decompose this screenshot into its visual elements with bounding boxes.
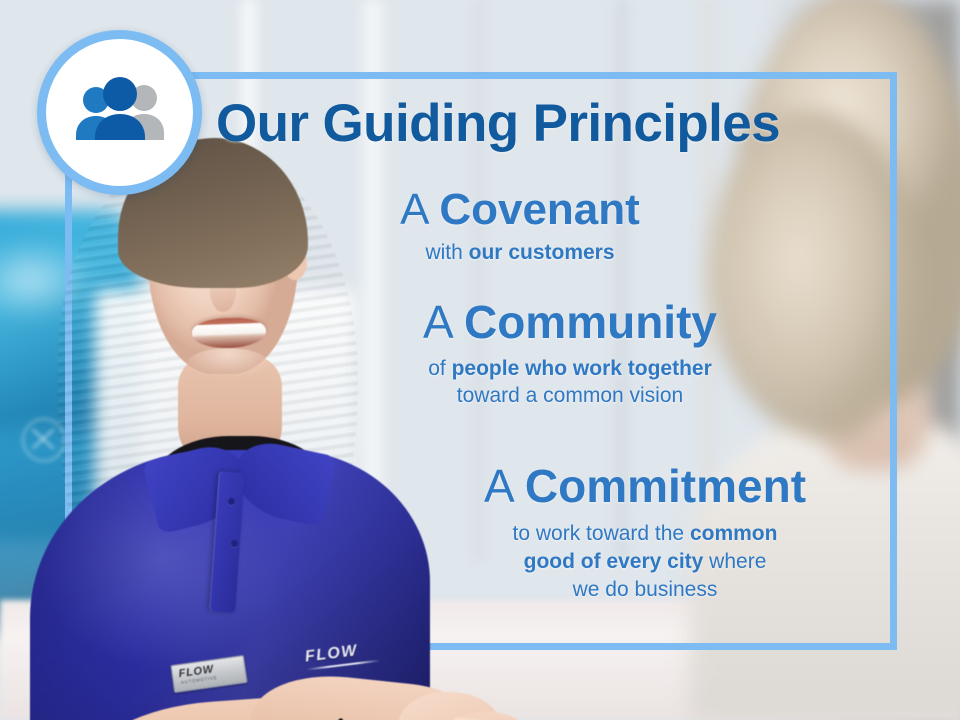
subtext-segment: where: [703, 550, 766, 573]
subtext-segment: of: [428, 357, 451, 380]
subtext-line: toward a common vision: [330, 383, 810, 410]
principle-covenant-lead: A: [400, 185, 427, 234]
text-content: Our Guiding Principles A Covenant with o…: [0, 0, 960, 720]
principle-community-headline: A Community: [330, 298, 810, 348]
poster-canvas: FLOW FLOW AUTOMOTIVE Our Guiding Princ: [0, 0, 960, 720]
page-title: Our Guiding Principles: [216, 96, 876, 152]
principle-commitment-subtext: to work toward the common good of every …: [420, 520, 870, 604]
principle-community: A Community of people who work together …: [330, 298, 810, 409]
subtext-segment-bold: our customers: [469, 241, 615, 264]
principle-commitment: A Commitment to work toward the common g…: [420, 462, 870, 604]
subtext-segment: with: [425, 241, 468, 264]
subtext-segment: to work toward the: [513, 522, 690, 545]
principle-commitment-lead: A: [484, 460, 512, 512]
principle-covenant-headline: A Covenant: [300, 186, 740, 234]
subtext-segment: we do business: [573, 578, 718, 601]
subtext-line: with our customers: [300, 240, 740, 267]
subtext-line: we do business: [420, 576, 870, 604]
subtext-line: to work toward the common: [420, 520, 870, 548]
principle-community-key: Community: [464, 296, 717, 348]
principle-covenant-key: Covenant: [439, 185, 639, 234]
principle-commitment-key: Commitment: [525, 460, 806, 512]
subtext-segment: toward a common vision: [457, 384, 683, 407]
subtext-segment-bold: common: [690, 522, 778, 545]
principle-community-lead: A: [423, 296, 451, 348]
principle-community-subtext: of people who work together toward a com…: [330, 356, 810, 410]
subtext-segment-bold: people who work together: [452, 357, 712, 380]
subtext-line: of people who work together: [330, 356, 810, 383]
principle-commitment-headline: A Commitment: [420, 462, 870, 512]
subtext-line: good of every city where: [420, 548, 870, 576]
principle-covenant-subtext: with our customers: [300, 240, 740, 267]
principle-covenant: A Covenant with our customers: [300, 186, 740, 266]
subtext-segment-bold: good of every city: [524, 550, 704, 573]
